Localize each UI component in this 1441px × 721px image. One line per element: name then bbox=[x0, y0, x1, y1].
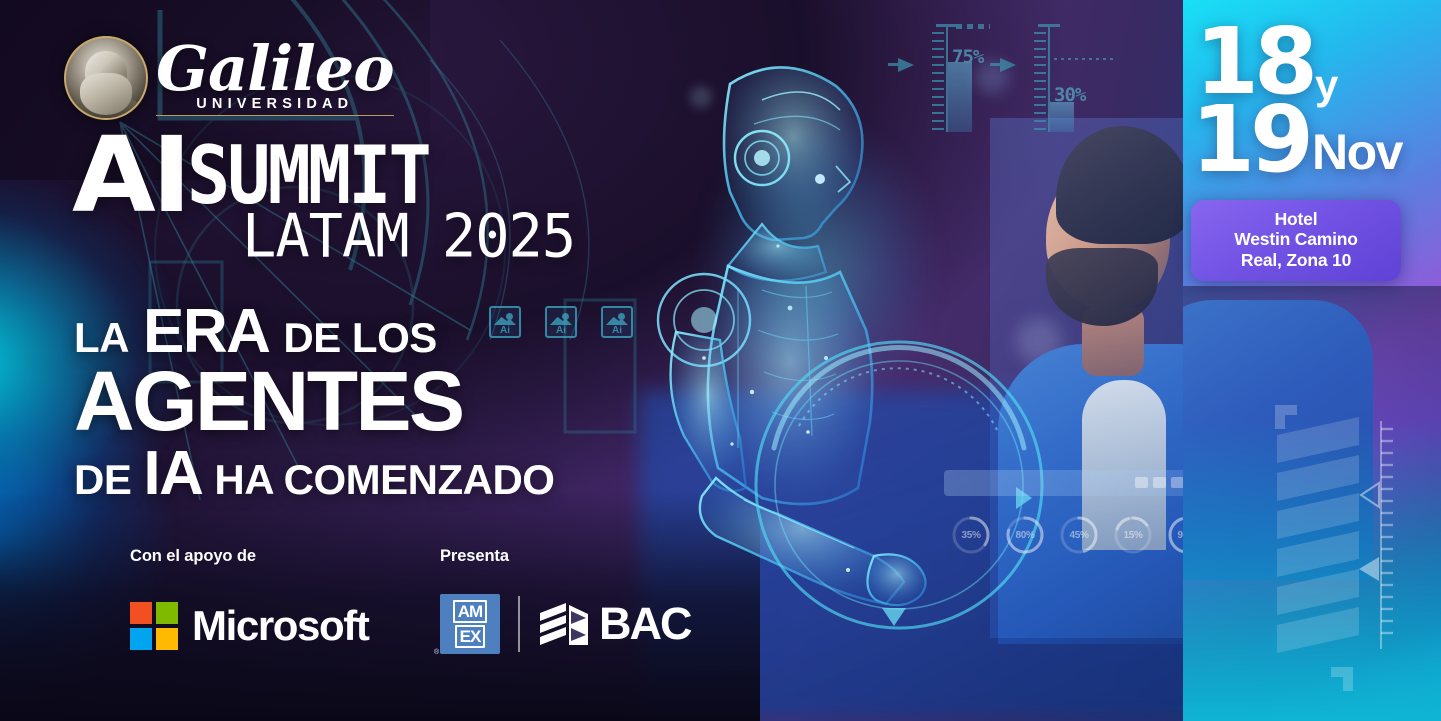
hud-progress-bar bbox=[944, 470, 1190, 496]
hud-ring-gauge: 35% bbox=[950, 514, 992, 556]
ai-image-icon: Ai bbox=[489, 306, 521, 338]
bac-logo: BAC bbox=[538, 598, 691, 650]
tagline-agentes: AGENTES bbox=[74, 363, 463, 440]
panel-stripe-decoration bbox=[1273, 399, 1423, 699]
university-subtitle: UNIVERSIDAD bbox=[156, 96, 394, 116]
event-title: AI SUMMIT LATAM 2025 bbox=[72, 132, 575, 264]
hud-ring-gauges: 35% 80% 45% 15 bbox=[950, 514, 1208, 556]
tagline-ia: IA bbox=[143, 438, 202, 509]
sponsors-section: Con el apoyo de Microsoft Presenta ® AM … bbox=[0, 547, 700, 677]
sponsor-group-support: Con el apoyo de Microsoft bbox=[130, 547, 368, 650]
microsoft-logo: Microsoft bbox=[130, 602, 368, 650]
hud-gauge-value: 30% bbox=[1054, 84, 1085, 106]
date-month: Nov bbox=[1312, 123, 1402, 181]
sponsor-group-presenter: Presenta ® AM EX bbox=[440, 547, 691, 654]
hud-ring-gauge: 80% bbox=[1004, 514, 1046, 556]
title-ai: AI bbox=[72, 132, 188, 219]
amex-line-1: AM bbox=[453, 600, 487, 623]
hud-gauge-value: 75% bbox=[952, 46, 983, 68]
venue-line-2: Westin Camino bbox=[1201, 229, 1391, 249]
hud-ring-gauge: 15% bbox=[1112, 514, 1154, 556]
microsoft-wordmark: Microsoft bbox=[192, 602, 368, 650]
date-day-second: 19 bbox=[1191, 100, 1309, 181]
amex-logo: ® AM EX bbox=[440, 594, 500, 654]
sponsor-divider bbox=[518, 596, 520, 652]
hud-gauge: 75% bbox=[916, 14, 1002, 138]
amex-line-2: EX bbox=[455, 625, 486, 648]
galileo-portrait-medallion bbox=[64, 36, 148, 120]
bac-mark-icon bbox=[538, 601, 590, 647]
galileo-university-logo: Galileo UNIVERSIDAD bbox=[64, 36, 394, 120]
venue-line-3: Real, Zona 10 bbox=[1201, 250, 1391, 270]
microsoft-squares-icon bbox=[130, 602, 178, 650]
ai-image-icon: Ai bbox=[545, 306, 577, 338]
sponsor-support-label: Con el apoyo de bbox=[130, 547, 368, 566]
amex-registered-mark: ® bbox=[434, 649, 439, 656]
hud-window-dots bbox=[1135, 477, 1184, 488]
hud-ring-gauge: 45% bbox=[1058, 514, 1100, 556]
event-tagline: LA ERA DE LOS AGENTES DE IA HA COMENZADO bbox=[74, 296, 554, 509]
hud-gauge: 30% bbox=[1018, 14, 1104, 138]
event-banner: Galileo UNIVERSIDAD AI SUMMIT LATAM 2025… bbox=[0, 0, 1441, 721]
venue-line-1: Hotel bbox=[1201, 209, 1391, 229]
venue-badge: Hotel Westin Camino Real, Zona 10 bbox=[1191, 200, 1401, 281]
hud-vertical-gauges: 75% 30% bbox=[916, 14, 1116, 144]
tagline-ha-comenzado: HA COMENZADO bbox=[214, 456, 554, 504]
university-name: Galileo bbox=[156, 40, 394, 97]
bac-wordmark: BAC bbox=[599, 598, 691, 650]
event-date-block: 18 y 19 Nov Hotel Westin Camino Real, Zo… bbox=[1191, 22, 1401, 281]
sponsor-present-label: Presenta bbox=[440, 547, 691, 566]
tagline-de: DE bbox=[74, 456, 131, 504]
ai-badge-label: Ai bbox=[547, 326, 575, 336]
ai-badge-label: Ai bbox=[491, 326, 519, 336]
hud-dashboard-panel: 35% 80% 45% 15 bbox=[944, 470, 1190, 570]
title-latam-year: LATAM 2025 bbox=[242, 207, 575, 267]
